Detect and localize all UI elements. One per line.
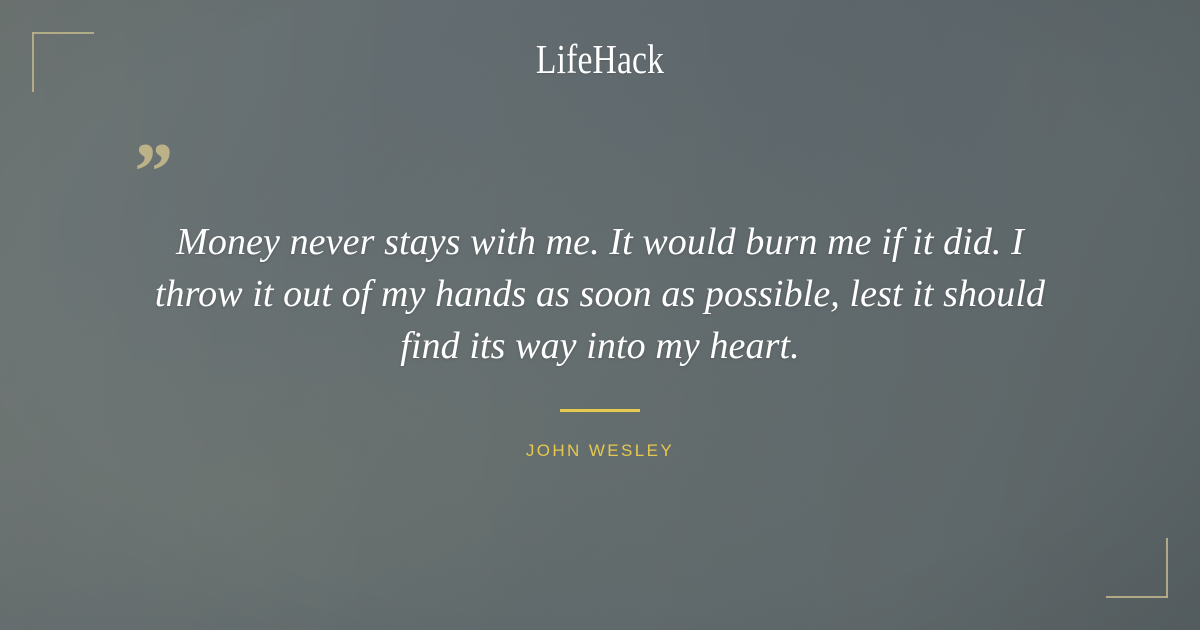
quote-author: JOHN WESLEY [0, 440, 1200, 462]
corner-bracket-top-left-horizontal [32, 32, 94, 34]
quotation-mark-icon: ” [130, 131, 169, 213]
brand-logo: LifeHack [108, 37, 1092, 81]
corner-bracket-bottom-right-horizontal [1106, 596, 1168, 598]
quote-card: LifeHack ” Money never stays with me. It… [0, 0, 1200, 630]
quote-text: Money never stays with me. It would burn… [100, 216, 1100, 372]
quote-line: Money never stays with me. It would burn… [100, 216, 1100, 268]
gold-divider [560, 409, 640, 412]
quote-line: find its way into my heart. [100, 320, 1100, 372]
corner-bracket-top-left-icon [32, 32, 94, 92]
corner-bracket-bottom-right-icon [1106, 538, 1168, 598]
quote-line: throw it out of my hands as soon as poss… [100, 268, 1100, 320]
corner-bracket-top-left-vertical [32, 32, 34, 92]
corner-bracket-bottom-right-vertical [1166, 538, 1168, 598]
